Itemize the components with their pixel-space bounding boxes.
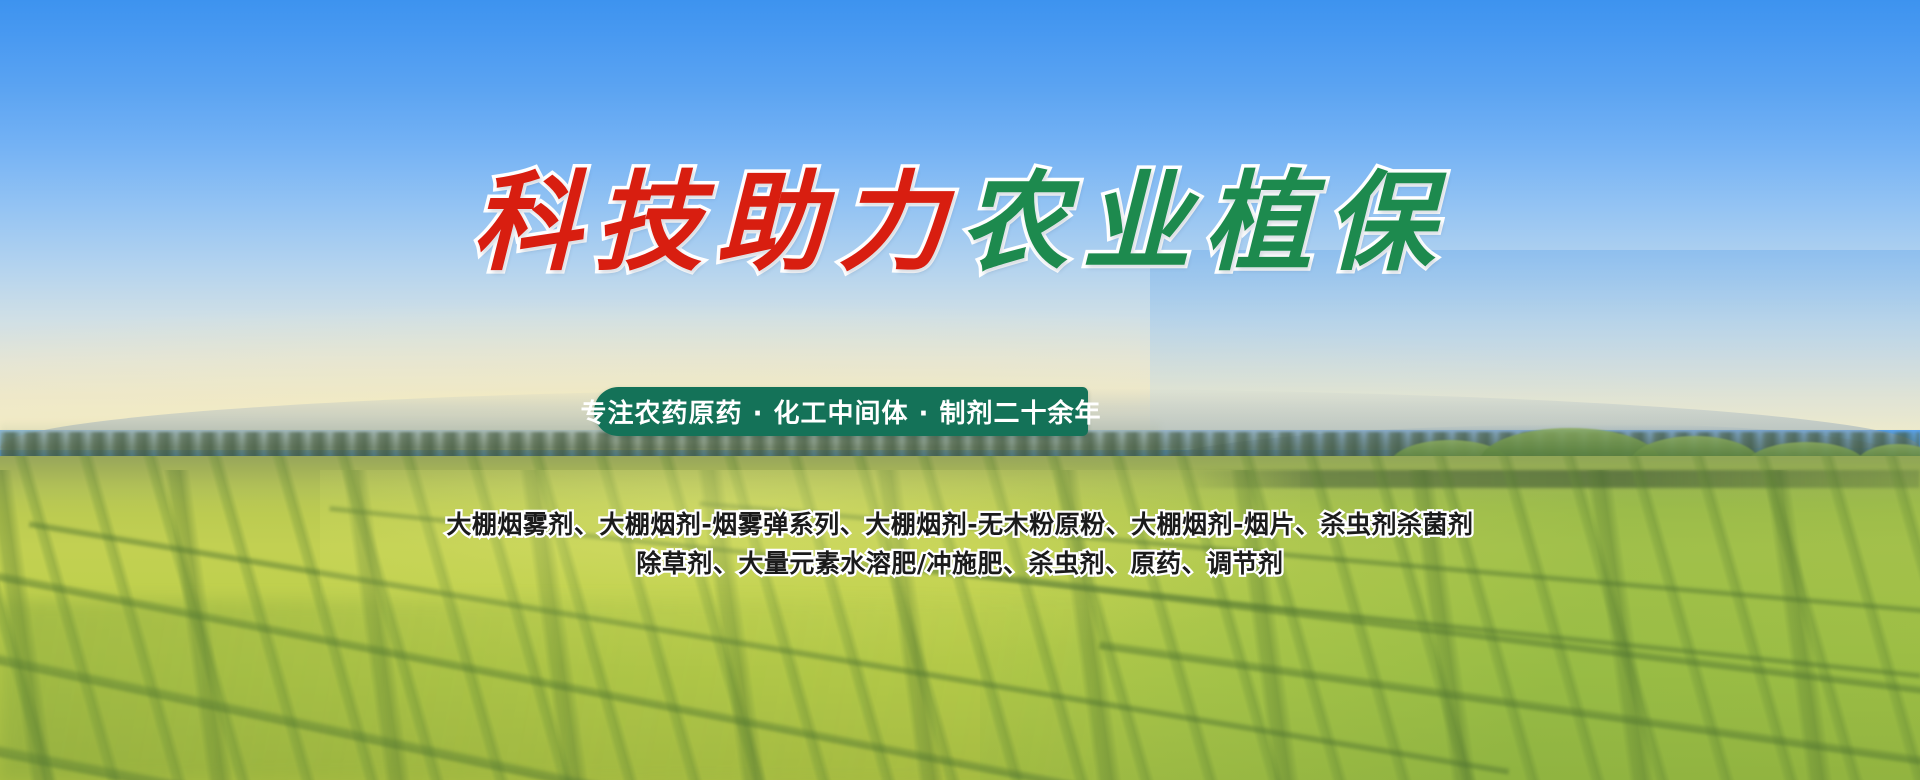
product-list: 大棚烟雾剂、大棚烟剂-烟雾弹系列、大棚烟剂-无木粉原粉、大棚烟剂-烟片、杀虫剂杀… [0, 505, 1920, 583]
product-line-2: 除草剂、大量元素水溶肥/冲施肥、杀虫剂、原药、调节剂 [0, 544, 1920, 583]
headline-red-part: 科技助力 [472, 160, 960, 286]
tagline-text: 专注农药原药 · 化工中间体 · 制剂二十余年 [581, 393, 1102, 430]
tagline-pill: 专注农药原药 · 化工中间体 · 制剂二十余年 [594, 387, 1088, 436]
field-shadow [0, 600, 1100, 780]
headline: 科技助力农业植保 [0, 160, 1920, 287]
product-line-1: 大棚烟雾剂、大棚烟剂-烟雾弹系列、大棚烟剂-无木粉原粉、大棚烟剂-烟片、杀虫剂杀… [0, 505, 1920, 544]
headline-green-part: 农业植保 [960, 160, 1448, 286]
hero-banner: 科技助力农业植保 专注农药原药 · 化工中间体 · 制剂二十余年 大棚烟雾剂、大… [0, 0, 1920, 780]
